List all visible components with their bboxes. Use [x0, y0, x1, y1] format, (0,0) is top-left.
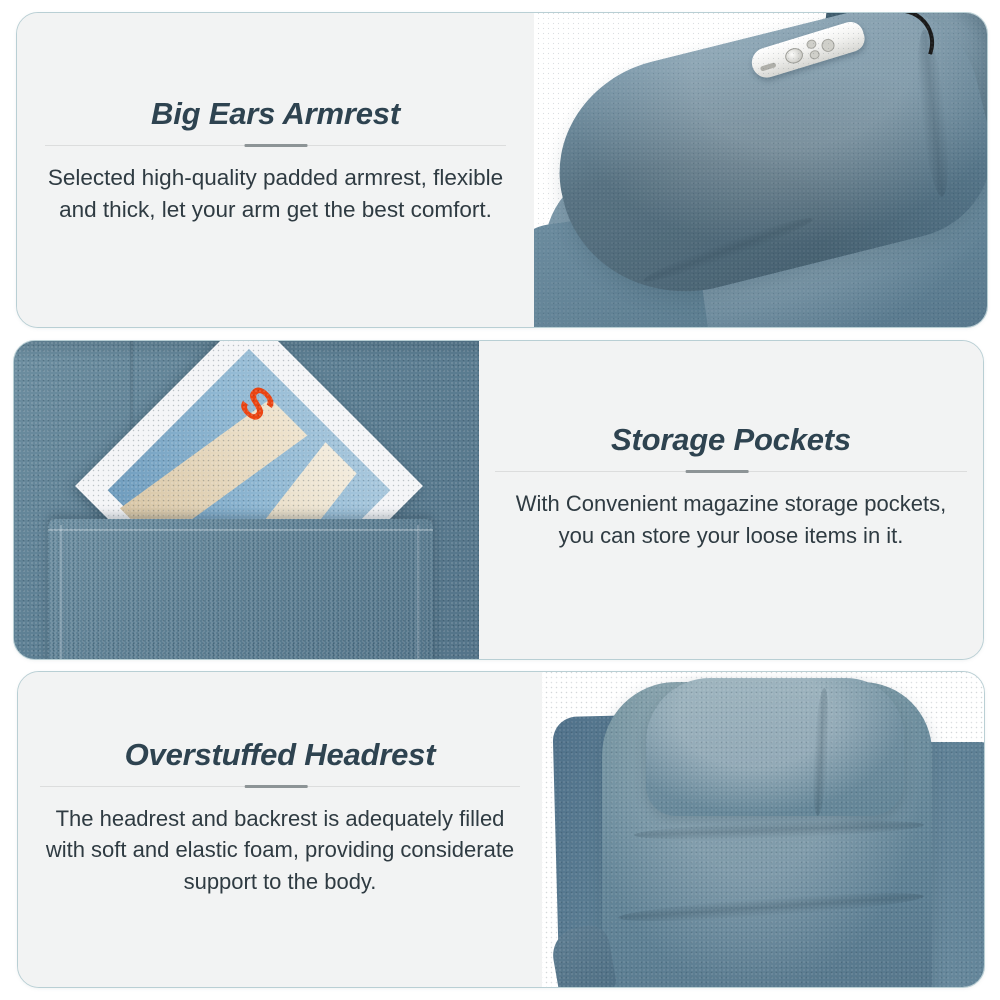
title-divider [495, 470, 967, 474]
remote-button-up [805, 38, 817, 50]
feature-photo-storage-pocket: S 2 Pitch [14, 341, 479, 659]
feature-photo-headrest [542, 672, 984, 987]
title-divider [45, 144, 506, 148]
feature-description: Selected high-quality padded armrest, fl… [45, 162, 506, 226]
feature-title: Overstuffed Headrest [125, 738, 436, 772]
fabric-texture-overlay [14, 341, 479, 659]
product-feature-infographic: Big Ears Armrest Selected high-quality p… [0, 0, 1000, 1000]
feature-description: The headrest and backrest is adequately … [40, 803, 520, 897]
feature-text-panel: Big Ears Armrest Selected high-quality p… [17, 13, 534, 327]
remote-dpad-button [783, 46, 805, 66]
feature-card-storage-pockets: Storage Pockets With Convenient magazine… [13, 340, 984, 660]
feature-photo-armrest [534, 13, 987, 327]
feature-card-overstuffed-headrest: Overstuffed Headrest The headrest and ba… [17, 671, 985, 988]
overstuffed-headrest-icon [646, 678, 904, 816]
remote-slot-shape [760, 62, 777, 71]
bolster-crease-shape [913, 28, 954, 198]
feature-description: With Convenient magazine storage pockets… [495, 488, 967, 550]
feature-card-big-ears-armrest: Big Ears Armrest Selected high-quality p… [16, 12, 988, 328]
feature-text-panel: Overstuffed Headrest The headrest and ba… [18, 672, 542, 987]
remote-button-power [820, 37, 836, 53]
feature-title: Storage Pockets [611, 423, 851, 457]
feature-title: Big Ears Armrest [151, 97, 400, 131]
remote-button-down [809, 49, 821, 61]
feature-text-panel: Storage Pockets With Convenient magazine… [479, 341, 983, 659]
title-divider [40, 785, 520, 789]
